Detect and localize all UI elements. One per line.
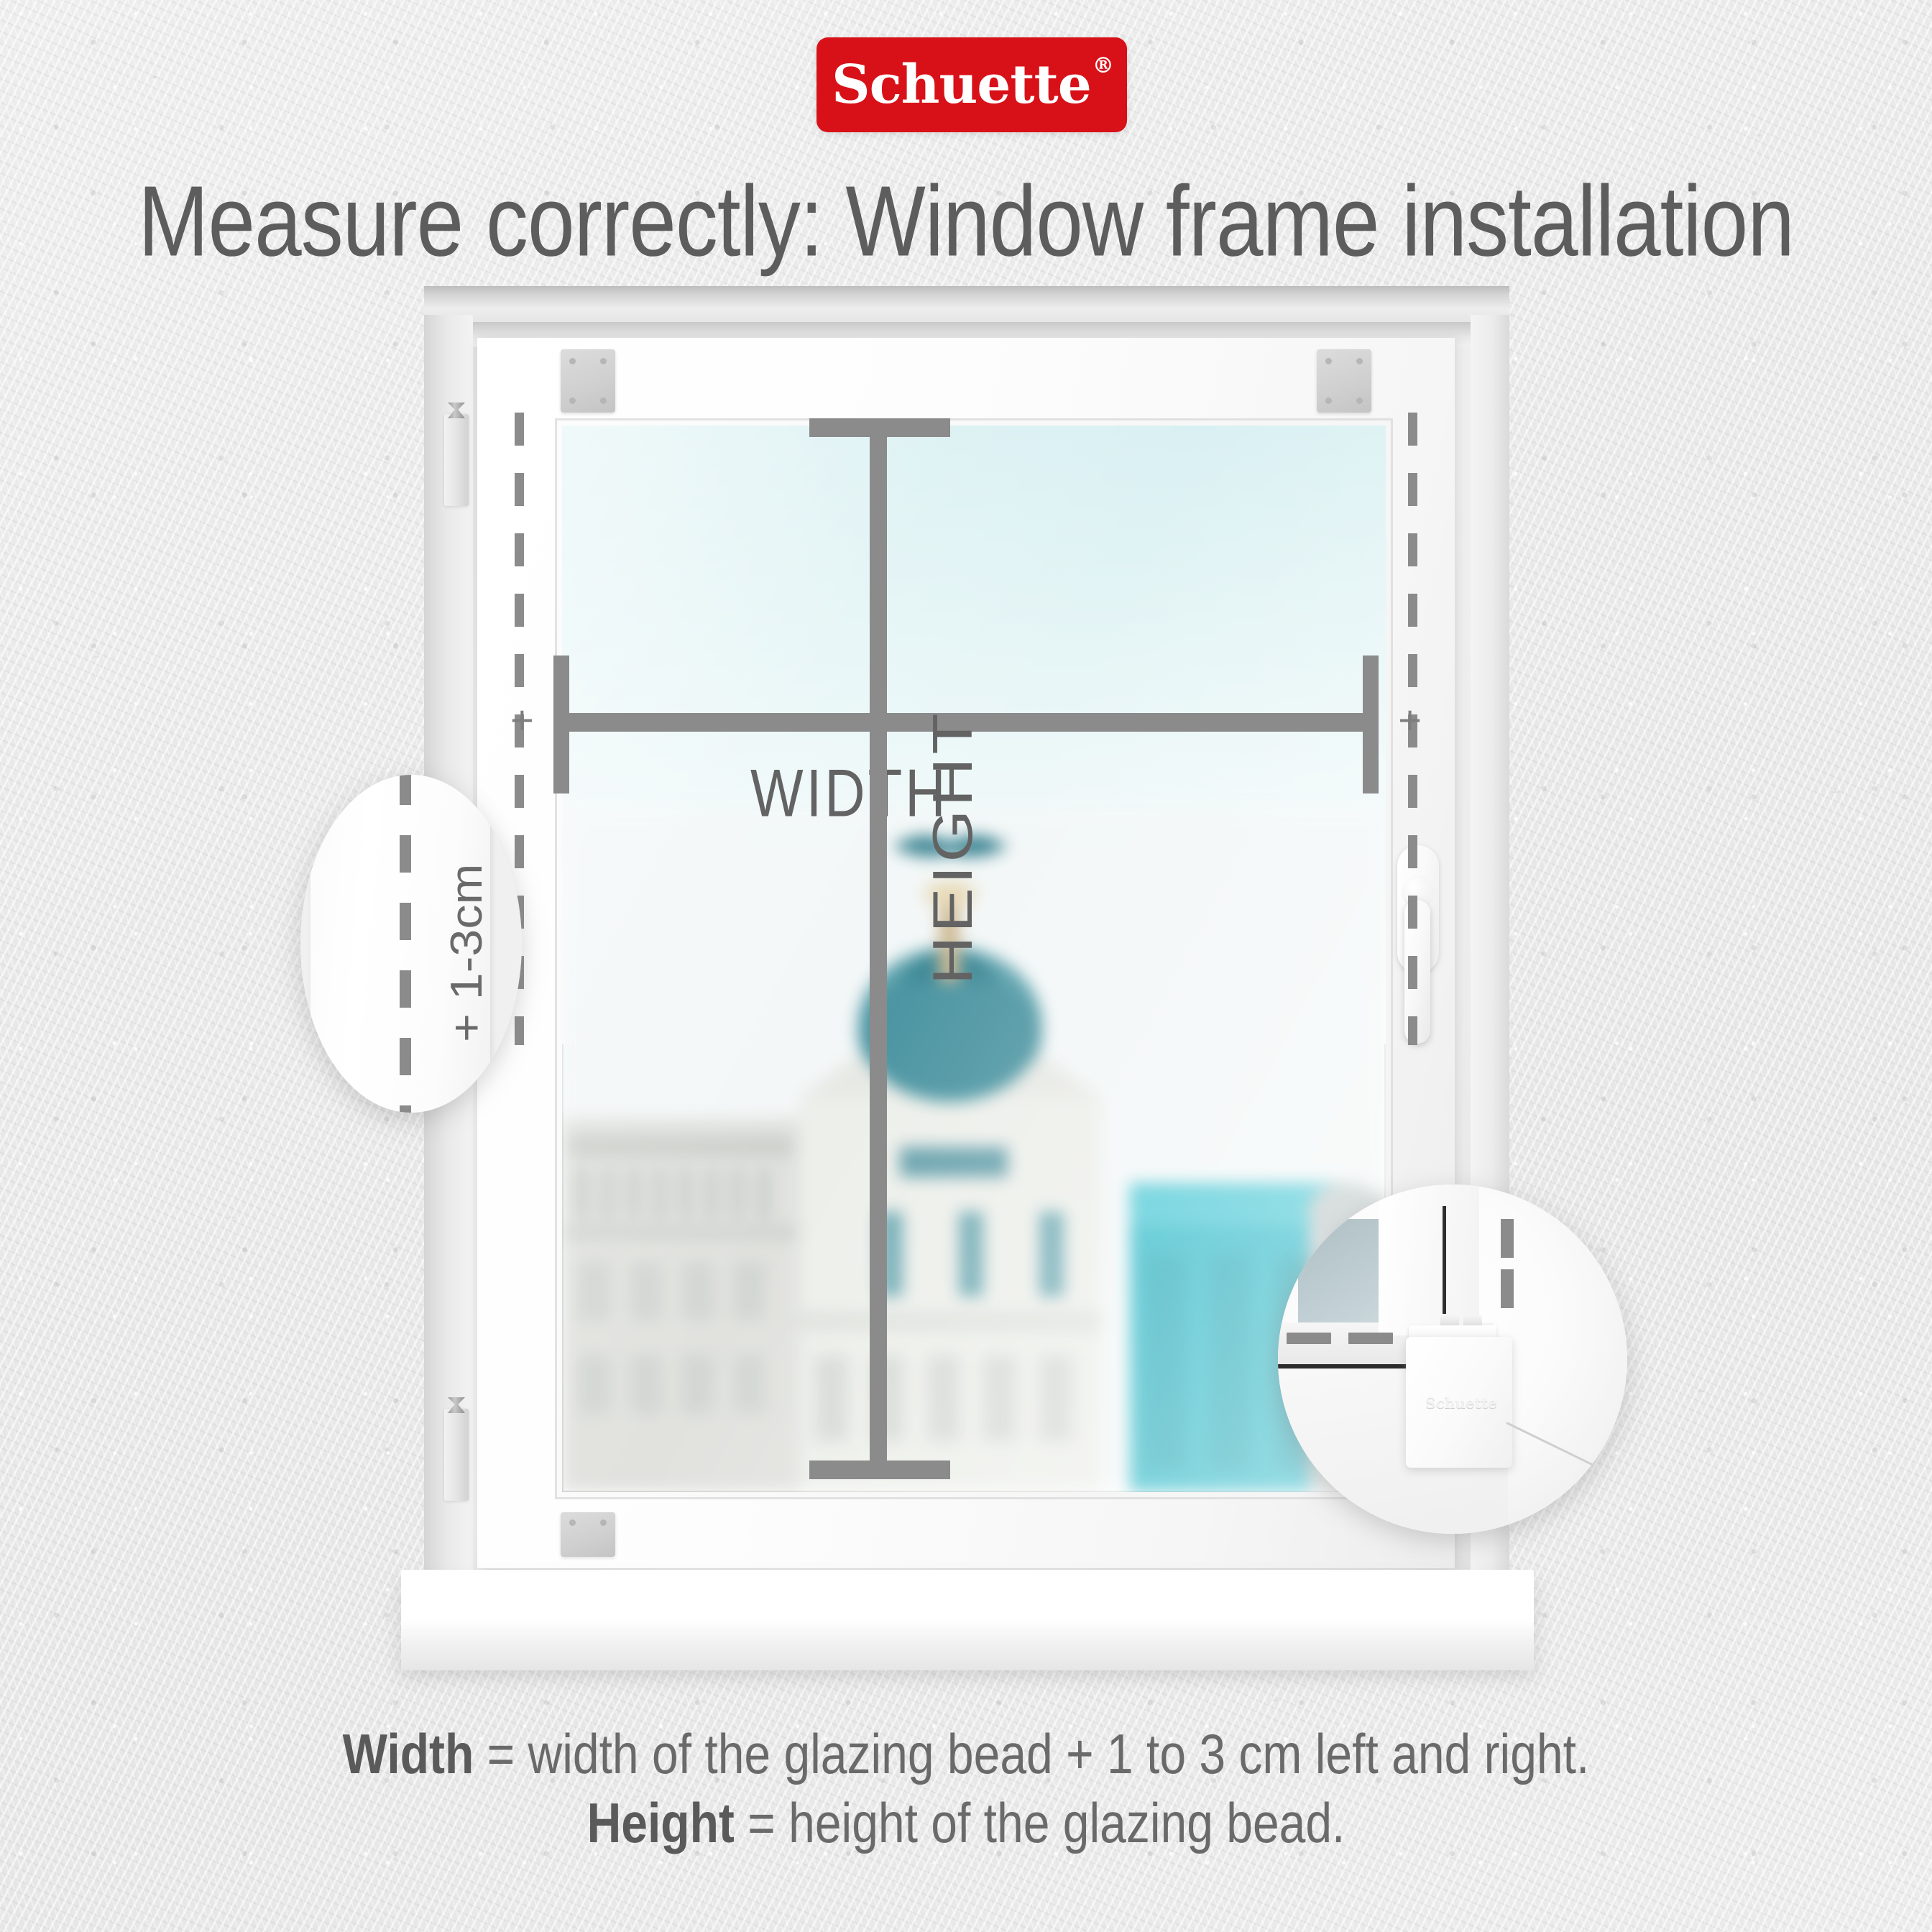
page-title: Measure correctly: Window frame installa… (0, 164, 1932, 279)
height-dimension-bar (870, 418, 887, 1479)
caption-width-rule: = width of the glazing bead + 1 to 3 cm … (474, 1722, 1589, 1785)
window-sill-edge (401, 1637, 1534, 1670)
detail-frame-right (1379, 1184, 1479, 1335)
infographic-canvas: Schuette® Measure correctly: Window fram… (0, 0, 1932, 1932)
window-hinge-bottom (444, 1409, 469, 1501)
plus-marker-left: + (510, 700, 534, 740)
width-endcap-right (1363, 655, 1379, 793)
caption-width: Width = width of the glazing bead + 1 to… (0, 1721, 1932, 1786)
height-label: HEIGHT (920, 710, 985, 985)
detail-bead-seam (1443, 1206, 1446, 1314)
magnifier-bracket-callout: Schuette (1278, 1184, 1627, 1534)
brand-logo-text: Schuette® (832, 58, 1112, 111)
brand-logo: Schuette® (816, 37, 1127, 132)
mounting-bracket-left (561, 349, 615, 413)
brand-name: Schuette (832, 54, 1091, 116)
window-hinge-top (444, 414, 469, 506)
height-endcap-bottom (809, 1460, 950, 1479)
plus-marker-right: + (1398, 700, 1422, 740)
width-label: WIDTH (750, 754, 949, 832)
detail-tick-left (1287, 1333, 1331, 1344)
mounting-bracket-bottom-left (561, 1512, 615, 1557)
caption-height: Height = height of the glazing bead. (0, 1790, 1932, 1855)
caption-height-rule: = height of the glazing bead. (735, 1791, 1345, 1854)
detail-tick-mid (1348, 1333, 1393, 1344)
caption-width-term: Width (343, 1722, 474, 1785)
magnifier-tolerance-callout: + 1-3cm (300, 775, 522, 1113)
registered-mark-icon: ® (1092, 53, 1113, 78)
mounting-bracket-right (1317, 349, 1371, 413)
tolerance-label: + 1-3cm (441, 864, 492, 1042)
caption-height-term: Height (587, 1791, 735, 1854)
detail-dashed-guide (1501, 1219, 1514, 1311)
detail-clip-brand: Schuette (1419, 1394, 1504, 1412)
magnified-dashed-guide (400, 775, 411, 1113)
